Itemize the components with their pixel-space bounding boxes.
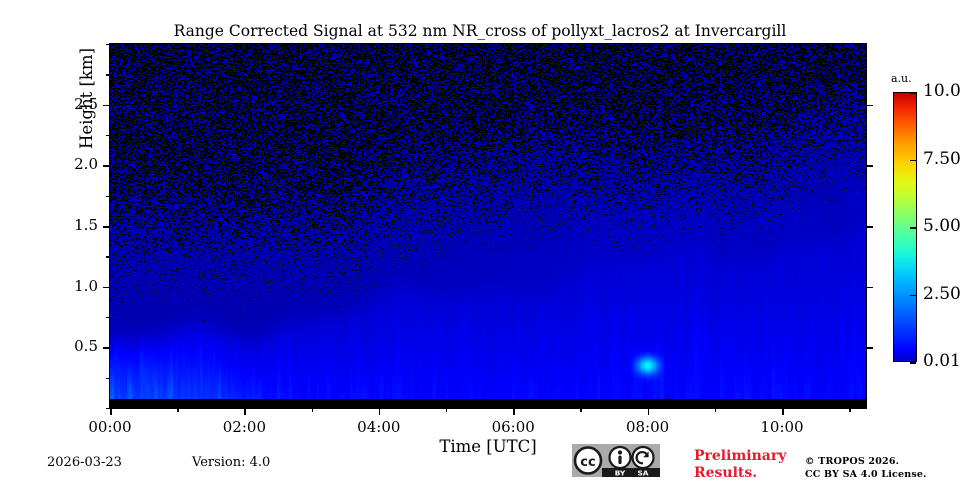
axis-spine-top: [109, 43, 867, 44]
x-tick-minor: [446, 408, 447, 412]
y-tick-minor: [106, 135, 110, 136]
y-tick-label: 0.5: [46, 337, 98, 355]
colorbar-tick-label: 10.000: [923, 81, 960, 101]
x-tick-major: [513, 408, 515, 415]
footer-version: Version: 4.0: [192, 455, 270, 470]
y-axis-label: Height [km]: [77, 48, 96, 149]
y-tick-minor: [106, 317, 110, 318]
x-tick-label: 10:00: [742, 418, 822, 436]
y-tick-right: [866, 226, 873, 228]
y-tick-minor: [106, 378, 110, 379]
svg-text:BY: BY: [615, 468, 626, 477]
y-tick-minor: [106, 408, 110, 409]
colorbar-tick-label: 5.005: [923, 216, 960, 236]
x-tick-label: 06:00: [473, 418, 553, 436]
copyright-notice: © TROPOS 2026. CC BY SA 4.0 License.: [805, 456, 927, 482]
x-tick-major: [782, 408, 784, 415]
x-tick-label: 04:00: [339, 418, 419, 436]
colorbar: a.u. 0.0102.5075.0057.50210.000: [893, 92, 917, 362]
y-tick-right: [866, 105, 873, 107]
x-tick-label: 00:00: [70, 418, 150, 436]
preliminary-line-2: Results.: [694, 465, 786, 482]
y-tick-major: [103, 226, 110, 228]
plot-axes: 00:0002:0004:0006:0008:0010:00 0.51.01.5…: [110, 44, 866, 408]
x-tick-label: 08:00: [608, 418, 688, 436]
colorbar-tick-label: 0.010: [923, 351, 960, 371]
colorbar-unit-label: a.u.: [891, 72, 912, 85]
y-tick-label: 1.0: [46, 277, 98, 295]
y-tick-major: [103, 347, 110, 349]
y-tick-right: [866, 165, 873, 167]
y-tick-label: 2.0: [46, 155, 98, 173]
y-tick-major: [103, 165, 110, 167]
x-tick-major: [244, 408, 246, 415]
svg-text:SA: SA: [637, 468, 648, 477]
y-tick-major: [103, 105, 110, 107]
lidar-heatmap-canvas: [110, 44, 866, 408]
x-tick-major: [379, 408, 381, 415]
x-tick-minor: [580, 408, 581, 412]
x-tick-minor: [715, 408, 716, 412]
x-tick-major: [110, 408, 112, 415]
x-tick-minor: [177, 408, 178, 412]
footer-date: 2026-03-23: [47, 455, 122, 470]
x-tick-major: [648, 408, 650, 415]
y-tick-minor: [106, 196, 110, 197]
cc-by-sa-badge-icon[interactable]: cc BY SA: [572, 444, 660, 477]
x-tick-label: 02:00: [204, 418, 284, 436]
colorbar-tick-label: 2.507: [923, 284, 960, 304]
y-tick-right: [866, 347, 873, 349]
page-title: Range Corrected Signal at 532 nm NR_cros…: [0, 22, 960, 40]
y-tick-right: [866, 287, 873, 289]
axis-spine-bottom: [109, 408, 867, 409]
colorbar-tick: [910, 92, 916, 94]
colorbar-tick: [910, 295, 916, 297]
y-tick-major: [103, 287, 110, 289]
x-tick-minor: [312, 408, 313, 412]
x-tick-minor: [849, 408, 850, 412]
colorbar-tick: [910, 227, 916, 229]
svg-text:cc: cc: [580, 455, 595, 470]
preliminary-results-notice: Preliminary Results.: [694, 448, 786, 481]
y-tick-label: 1.5: [46, 216, 98, 234]
y-tick-minor: [106, 44, 110, 45]
preliminary-line-1: Preliminary: [694, 448, 786, 465]
y-tick-minor: [106, 256, 110, 257]
colorbar-tick: [910, 160, 916, 162]
colorbar-tick: [910, 362, 916, 364]
y-tick-minor: [106, 74, 110, 75]
colorbar-tick-label: 7.502: [923, 149, 960, 169]
copyright-line-1: © TROPOS 2026.: [805, 456, 927, 469]
